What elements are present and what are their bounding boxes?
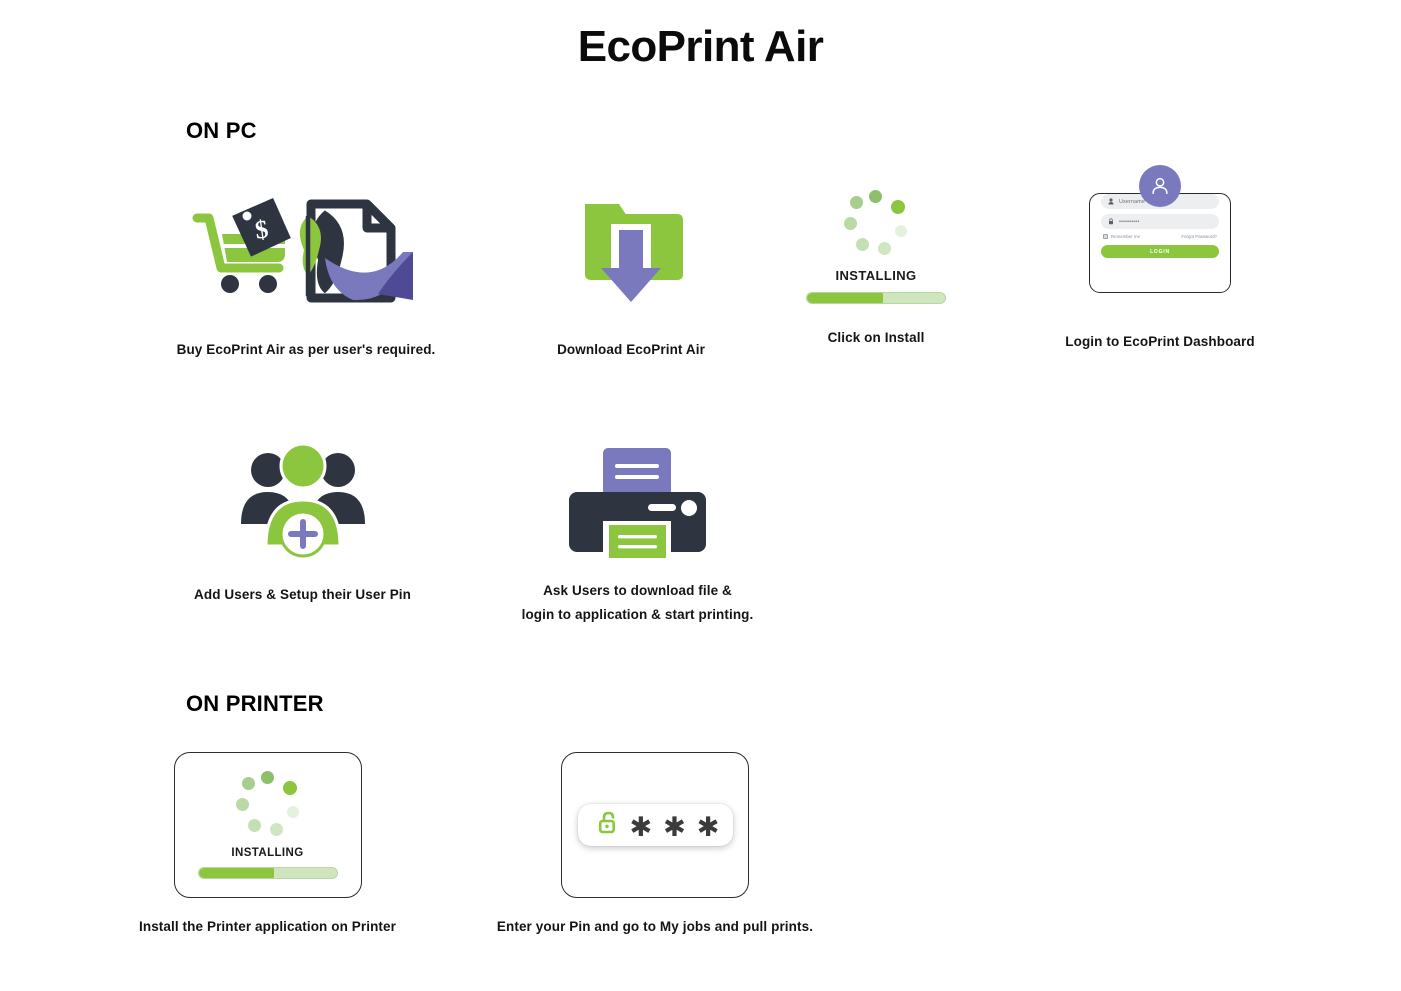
caption-buy: Buy EcoPrint Air as per user's required. [150, 338, 462, 362]
step-add-users: Add Users & Setup their User Pin [175, 442, 430, 607]
section-heading-on-printer: ON PRINTER [186, 691, 324, 717]
printer-illustration [505, 442, 770, 565]
username-value: Username [1119, 199, 1145, 205]
pin-entry-field[interactable]: ✱ ✱ ✱ [578, 804, 733, 846]
login-illustration: Username •••••••••• Remember me Forgot P… [1040, 193, 1280, 293]
printer-install-progress-fill [199, 868, 275, 878]
step-download-ecoprint: Download EcoPrint Air [500, 190, 762, 362]
caption-printing-line1: Ask Users to download file & [505, 579, 770, 603]
printer-pin-card: ✱ ✱ ✱ [561, 752, 749, 898]
download-illustration [500, 190, 762, 315]
unlocked-padlock-icon [598, 810, 619, 840]
step-buy-ecoprint: $ Buy EcoPrint Air as per user's require… [150, 190, 462, 362]
forgot-password-link[interactable]: Forgot Password? [1181, 234, 1217, 239]
printer-install-card: INSTALLING [174, 752, 362, 898]
loading-spinner-icon [836, 190, 916, 264]
section-heading-on-pc: ON PC [186, 118, 257, 144]
caption-download: Download EcoPrint Air [500, 338, 762, 362]
folder-download-icon [571, 190, 691, 315]
page-title: EcoPrint Air [0, 22, 1401, 72]
lock-icon [1108, 218, 1114, 225]
pin-char-1: ✱ [630, 814, 653, 841]
install-progress-fill [807, 293, 883, 303]
install-illustration: INSTALLING [780, 190, 972, 304]
login-options-row: Remember me Forgot Password? [1103, 234, 1217, 239]
step-printer-pin: ✱ ✱ ✱ Enter your Pin and go to My jobs a… [495, 752, 815, 939]
caption-add-users: Add Users & Setup their User Pin [175, 583, 430, 607]
user-avatar-icon [1139, 165, 1181, 207]
printer-icon [565, 442, 710, 560]
printer-installing-status-label: INSTALLING [231, 847, 303, 859]
password-value: •••••••••• [1119, 219, 1139, 225]
caption-install: Click on Install [780, 326, 972, 350]
login-button[interactable]: LOGIN [1101, 245, 1219, 258]
printer-install-progress-bar [198, 867, 338, 879]
caption-printing-line2: login to application & start printing. [505, 603, 770, 627]
add-users-illustration [175, 442, 430, 565]
buy-icons-svg: $ [181, 190, 431, 315]
pin-char-2: ✱ [663, 814, 686, 841]
password-field[interactable]: •••••••••• [1101, 214, 1219, 229]
login-card: Username •••••••••• Remember me Forgot P… [1089, 193, 1231, 293]
remember-me-label: Remember me [1111, 234, 1140, 239]
buy-illustration: $ [150, 190, 462, 315]
pin-char-3: ✱ [697, 814, 720, 841]
remember-me-checkbox[interactable] [1103, 234, 1108, 239]
step-start-printing: Ask Users to download file & login to ap… [505, 442, 770, 627]
caption-printer-pin: Enter your Pin and go to My jobs and pul… [495, 915, 815, 939]
installing-status-label: INSTALLING [780, 268, 972, 283]
step-printer-install: INSTALLING Install the Printer applicati… [130, 752, 405, 939]
step-login-dashboard: Username •••••••••• Remember me Forgot P… [1040, 165, 1280, 354]
loading-spinner-icon [228, 771, 308, 845]
avatar-glyph [1149, 175, 1171, 197]
person-icon [1108, 198, 1114, 205]
users-group-icon [238, 442, 368, 560]
step-click-install: INSTALLING Click on Install [780, 190, 972, 350]
install-progress-bar [806, 292, 946, 304]
caption-printer-install: Install the Printer application on Print… [130, 915, 405, 939]
remember-me-option[interactable]: Remember me [1103, 234, 1140, 239]
caption-login: Login to EcoPrint Dashboard [1040, 330, 1280, 354]
